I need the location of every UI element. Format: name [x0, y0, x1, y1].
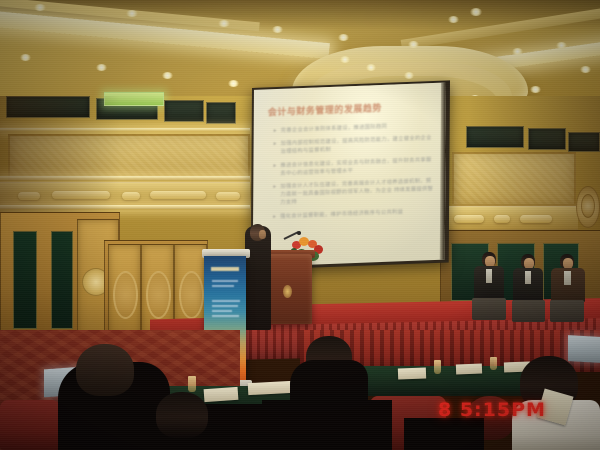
speaker-body — [245, 226, 271, 330]
door-glass-panel — [51, 231, 73, 329]
banner-text-line — [212, 305, 238, 307]
downlight-icon — [408, 41, 419, 48]
speaker-face — [259, 230, 266, 239]
downlight-icon — [580, 66, 591, 73]
microphone-icon — [297, 231, 301, 235]
water-glass — [490, 357, 497, 370]
slide-bullet-text: 强化会计监督职能，维护市场经济秩序与公共利益 — [280, 208, 403, 221]
slide-bullet-text: 加强会计人才队伍建设，完善高端会计人才培养选拔机制，努力造就一批具备国际视野的领… — [280, 177, 433, 207]
slide-bullet-text: 加强内部控制规范建设，提高风险防范能力，建立健全的企业治理结构与监督机制 — [281, 134, 434, 156]
panelist-shirt — [564, 271, 571, 285]
scroll-ornament — [216, 192, 240, 200]
panelist-1 — [472, 252, 512, 330]
handout-paper — [248, 381, 293, 395]
banner-text-line — [212, 280, 238, 282]
banner-heading — [211, 267, 239, 271]
downlight-icon — [448, 16, 459, 23]
downlight-icon — [20, 54, 31, 61]
panelist-shirt — [525, 271, 531, 284]
water-glass — [434, 360, 441, 374]
conference-photo: 会计与财务管理的发展趋势 ▸ 完善企业会计准则体系建设，推进国际趋同 ▸ 加强内… — [0, 0, 600, 450]
panelist-legs — [550, 300, 584, 322]
slide-bullet-item: ▸ 加强内部控制规范建设，提高风险防范能力，建立健全的企业治理结构与监督机制 — [274, 134, 434, 157]
slide-bullet-item: ▸ 强化会计监督职能，维护市场经济秩序与公共利益 — [273, 207, 433, 221]
panelist-3 — [550, 254, 594, 330]
bullet-marker-icon: ▸ — [273, 162, 276, 179]
slide-title: 会计与财务管理的发展趋势 — [268, 101, 382, 118]
door-oval-carving — [146, 271, 171, 319]
downlight-icon — [218, 20, 230, 27]
panelist-2 — [512, 254, 552, 330]
downlight-icon — [404, 72, 414, 79]
downlight-icon — [126, 10, 138, 17]
name-card — [398, 368, 426, 380]
audience-silhouette-4 — [404, 418, 484, 450]
scroll-ornament — [150, 191, 206, 199]
audience-shoulders — [290, 360, 368, 416]
bullet-marker-icon: ▸ — [273, 183, 276, 208]
downlight-icon — [512, 48, 523, 55]
downlight-icon — [530, 86, 541, 93]
door-glass-panel — [13, 231, 37, 329]
slide-bullet-list: ▸ 完善企业会计准则体系建设，推进国际趋同 ▸ 加强内部控制规范建设，提高风险防… — [273, 121, 434, 226]
banner-text-line — [212, 300, 240, 302]
slide-bullet-text: 完善企业会计准则体系建设，推进国际趋同 — [281, 123, 387, 135]
door-oval-carving — [179, 271, 204, 319]
transom-window — [206, 102, 236, 124]
bullet-marker-icon: ▸ — [274, 140, 277, 157]
podium-emblem — [283, 285, 292, 298]
laptop-screen[interactable] — [568, 335, 600, 363]
panelist-shirt — [486, 269, 492, 283]
downlight-icon — [470, 8, 482, 16]
scroll-ornament — [122, 192, 140, 200]
screen-edge-shadow — [440, 83, 446, 260]
panelist-legs — [512, 300, 545, 322]
banner-text-line — [212, 285, 234, 287]
water-glass — [188, 376, 196, 392]
panelist-legs — [472, 298, 506, 320]
handout-paper — [204, 387, 239, 402]
downlight-icon — [272, 26, 283, 33]
slide-bullet-item: ▸ 加强会计人才队伍建设，完善高端会计人才培养选拔机制，努力造就一批具备国际视野… — [273, 177, 433, 208]
camera-timestamp: 8 5:15PM — [438, 399, 546, 421]
slide-bullet-item: ▸ 推进会计信息化建设，实现业务与财务融合，提升财务共享服务中心的运营效率与管理… — [273, 156, 433, 179]
downlight-icon — [366, 64, 376, 71]
transom-window — [164, 100, 204, 122]
audience-chair — [0, 400, 60, 450]
name-card — [456, 364, 482, 375]
downlight-icon — [162, 72, 173, 79]
door-oval-carving — [113, 271, 138, 319]
slide-bullet-item: ▸ 完善企业会计准则体系建设，推进国际趋同 — [274, 121, 434, 135]
banner-text-line — [212, 310, 232, 312]
downlight-icon — [228, 80, 239, 87]
downlight-icon — [96, 64, 107, 71]
slide-bullet-text: 推进会计信息化建设，实现业务与财务融合，提升财务共享服务中心的运营效率与管理水平 — [280, 156, 433, 178]
audience-head-hair — [76, 344, 134, 396]
banner-text-line — [212, 315, 239, 317]
projection-screen-surface: 会计与财务管理的发展趋势 ▸ 完善企业会计准则体系建设，推进国际趋同 ▸ 加强内… — [253, 83, 446, 267]
audience-head — [156, 392, 208, 438]
bullet-marker-icon: ▸ — [273, 213, 276, 221]
downlight-icon — [34, 4, 46, 11]
projection-screen: 会计与财务管理的发展趋势 ▸ 完善企业会计准则体系建设，推进国际趋同 ▸ 加强内… — [251, 80, 450, 270]
bullet-marker-icon: ▸ — [274, 127, 277, 135]
downlight-icon — [340, 56, 350, 63]
downlight-icon — [338, 34, 349, 41]
downlight-icon — [556, 42, 567, 49]
